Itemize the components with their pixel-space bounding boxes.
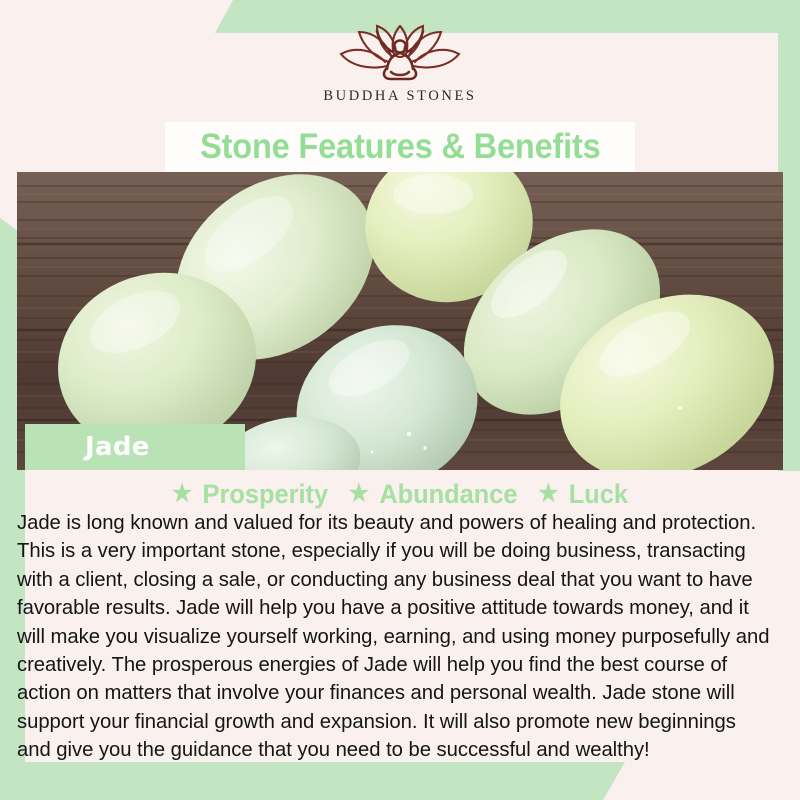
lotus-meditation-icon (325, 22, 475, 84)
infographic-page: BUDDHA STONES Stone Features & Benefits (0, 0, 800, 800)
benefits-row: ★Prosperity★Abundance★Luck (24, 479, 776, 510)
benefit-abundance: Abundance (379, 479, 517, 509)
star-icon-prosperity: ★ (172, 480, 192, 507)
brand-wordmark: BUDDHA STONES (323, 88, 476, 105)
page-title: Stone Features & Benefits (200, 127, 601, 167)
stone-name-label: Jade (25, 424, 245, 470)
benefit-luck: Luck (569, 479, 628, 509)
star-icon-luck: ★ (538, 480, 558, 507)
decor-band-bottom (0, 762, 625, 800)
stone-description: Jade is long known and valued for its be… (17, 509, 772, 765)
stone-name-text: Jade (85, 432, 150, 462)
title-banner: Stone Features & Benefits (165, 122, 635, 172)
brand-header: BUDDHA STONES (0, 0, 800, 120)
brand-logo: BUDDHA STONES (0, 22, 800, 105)
star-icon-abundance: ★ (349, 480, 369, 507)
benefit-prosperity: Prosperity (203, 479, 329, 509)
